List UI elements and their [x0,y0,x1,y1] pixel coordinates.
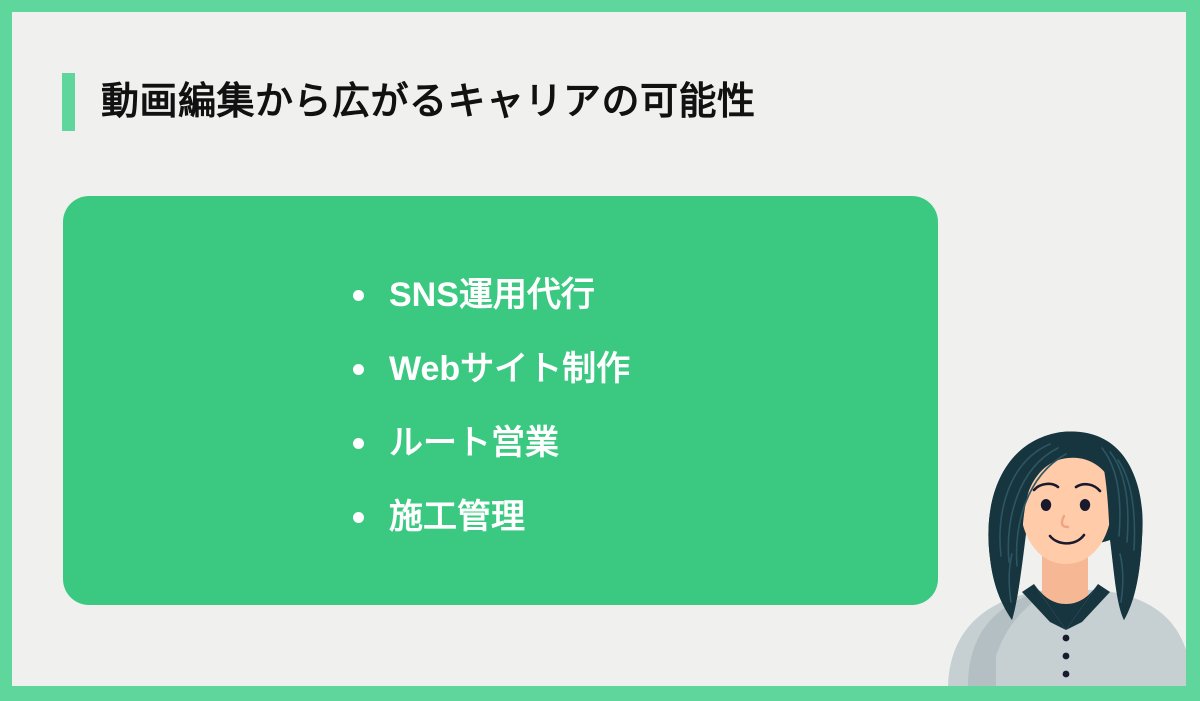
bullet-dot-icon [353,512,364,523]
eye-left-icon [1041,499,1051,511]
list-item: Webサイト制作 [353,332,630,406]
list-item: 施工管理 [353,480,630,554]
slide-canvas: 動画編集から広がるキャリアの可能性 SNS運用代行 Webサイト制作 ルート営業 [12,12,1186,686]
content-card: SNS運用代行 Webサイト制作 ルート営業 施工管理 [63,196,938,605]
shirt-button-icon [1063,653,1070,660]
list-item-label: ルート営業 [389,426,559,460]
woman-avatar-illustration [938,406,1186,686]
career-options-list: SNS運用代行 Webサイト制作 ルート営業 施工管理 [353,258,630,554]
bullet-dot-icon [353,438,364,449]
bullet-dot-icon [353,364,364,375]
avatar-icon [938,406,1186,686]
title-text: 動画編集から広がるキャリアの可能性 [101,83,756,121]
list-item-label: Webサイト制作 [389,352,630,386]
page-title: 動画編集から広がるキャリアの可能性 [62,72,756,132]
slide-frame: 動画編集から広がるキャリアの可能性 SNS運用代行 Webサイト制作 ルート営業 [0,0,1200,701]
shirt-button-icon [1063,635,1070,642]
list-item: SNS運用代行 [353,258,630,332]
title-accent-bar [62,73,75,131]
list-item-label: SNS運用代行 [389,278,595,312]
list-item: ルート営業 [353,406,630,480]
bullet-dot-icon [353,290,364,301]
eye-right-icon [1080,499,1090,511]
shirt-button-icon [1063,671,1070,678]
list-item-label: 施工管理 [389,500,525,534]
